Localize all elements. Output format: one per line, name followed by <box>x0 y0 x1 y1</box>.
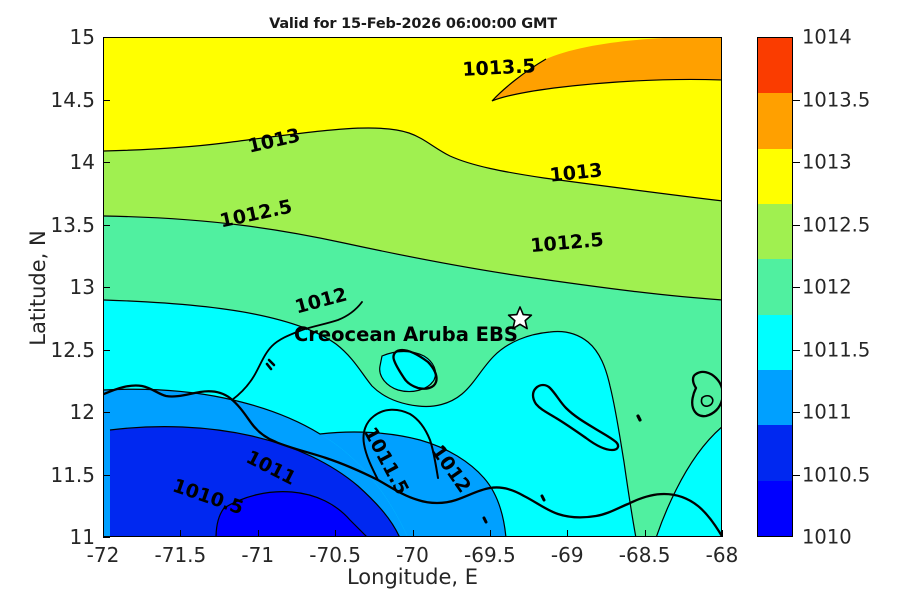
colorbar-tick-mark <box>793 350 800 351</box>
colorbar-band-0 <box>758 481 792 536</box>
y-tick-mark <box>103 162 110 163</box>
colorbar-band-1 <box>758 425 792 480</box>
x-tick-mark <box>722 530 723 537</box>
x-tick-neg69p5: -69.5 <box>464 543 516 567</box>
contour-plot-area[interactable]: 1013.5101310131012.51012.5101210111010.5… <box>103 37 722 537</box>
colorbar-tick-mark <box>793 225 800 226</box>
colorbar-tick-1010p5: 1010.5 <box>802 463 870 486</box>
y-tick-mark <box>103 475 110 476</box>
colorbar[interactable] <box>757 37 793 537</box>
x-tick-mark <box>413 530 414 537</box>
colorbar-band-6 <box>758 149 792 204</box>
x-tick-mark <box>103 530 104 537</box>
colorbar-band-4 <box>758 259 792 314</box>
colorbar-tick-1010: 1010 <box>802 526 852 549</box>
y-tick-13p5: 13.5 <box>50 213 95 237</box>
colorbar-tick-mark <box>793 475 800 476</box>
contour-plot-svg <box>104 38 722 537</box>
colorbar-band-5 <box>758 204 792 259</box>
x-tick-neg70p5: -70.5 <box>309 543 361 567</box>
coastline-islet-3 <box>542 496 544 500</box>
coastline-islet-4 <box>484 518 486 522</box>
y-tick-14p5: 14.5 <box>50 88 95 112</box>
x-tick-neg71: -71 <box>241 543 274 567</box>
station-name-label: Creocean Aruba EBS <box>294 323 518 346</box>
colorbar-tick-1013: 1013 <box>802 151 852 174</box>
y-tick-mark <box>103 287 110 288</box>
x-tick-neg68: -68 <box>706 543 739 567</box>
y-tick-15: 15 <box>70 25 95 49</box>
y-tick-12p5: 12.5 <box>50 338 95 362</box>
x-tick-mark <box>645 530 646 537</box>
y-tick-mark <box>103 225 110 226</box>
y-tick-11p5: 11.5 <box>50 463 95 487</box>
colorbar-band-2 <box>758 370 792 425</box>
y-tick-12: 12 <box>70 400 95 424</box>
x-tick-mark <box>490 530 491 537</box>
y-tick-mark <box>103 537 110 538</box>
colorbar-tick-1012p5: 1012.5 <box>802 213 870 236</box>
x-tick-mark <box>258 530 259 537</box>
colorbar-band-7 <box>758 93 792 148</box>
colorbar-tick-mark <box>793 287 800 288</box>
y-tick-mark <box>103 350 110 351</box>
y-tick-mark <box>103 412 110 413</box>
page-title: Valid for 15-Feb-2026 06:00:00 GMT <box>103 16 723 32</box>
y-tick-mark <box>103 100 110 101</box>
x-tick-neg71p5: -71.5 <box>155 543 207 567</box>
x-tick-mark <box>335 530 336 537</box>
colorbar-band-8 <box>758 38 792 93</box>
colorbar-tick-1013p5: 1013.5 <box>802 88 870 111</box>
colorbar-tick-mark <box>793 162 800 163</box>
pressure-map-figure: Valid for 15-Feb-2026 06:00:00 GMT <box>0 0 900 600</box>
colorbar-tick-1012: 1012 <box>802 276 852 299</box>
y-axis-title: Latitude, N <box>26 158 50 418</box>
colorbar-tick-1011p5: 1011.5 <box>802 338 870 361</box>
x-tick-mark <box>567 530 568 537</box>
y-tick-14: 14 <box>70 150 95 174</box>
x-tick-neg70: -70 <box>396 543 429 567</box>
colorbar-tick-mark <box>793 100 800 101</box>
x-axis-title: Longitude, E <box>103 565 722 589</box>
colorbar-band-3 <box>758 315 792 370</box>
x-tick-neg68p5: -68.5 <box>619 543 671 567</box>
y-tick-mark <box>103 37 110 38</box>
x-tick-mark <box>180 530 181 537</box>
x-tick-neg69: -69 <box>551 543 584 567</box>
y-tick-13: 13 <box>70 275 95 299</box>
colorbar-tick-1011: 1011 <box>802 401 852 424</box>
x-tick-neg72: -72 <box>87 543 120 567</box>
coastline-klein-curacao <box>638 416 640 420</box>
colorbar-tick-mark <box>793 412 800 413</box>
colorbar-tick-1014: 1014 <box>802 26 852 49</box>
